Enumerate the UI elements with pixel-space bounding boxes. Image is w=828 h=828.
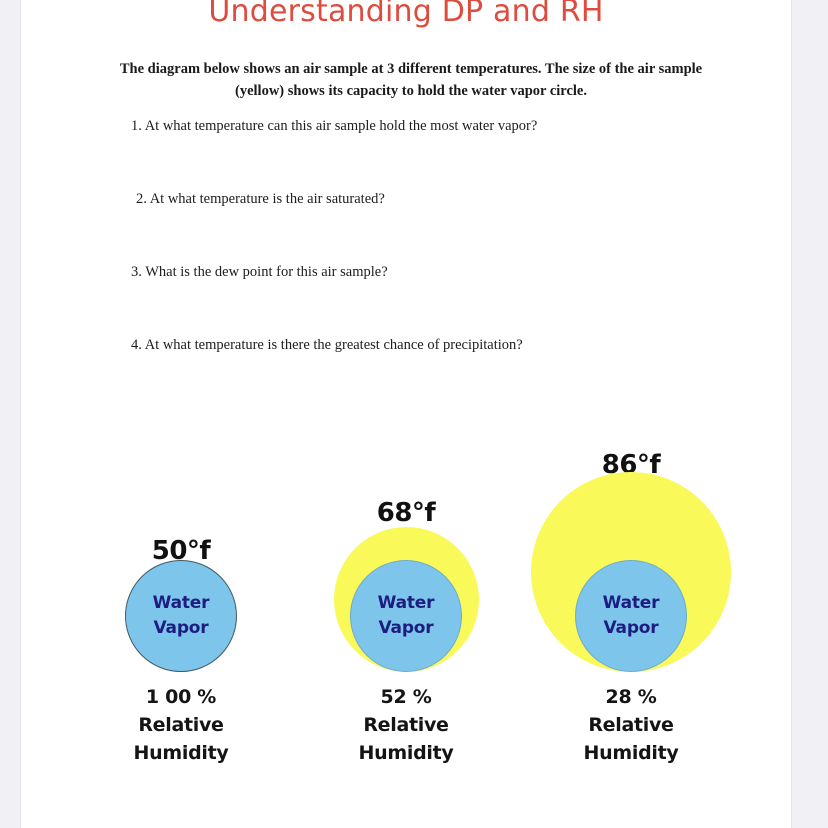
caption-50f: 1 00 % Relative Humidity (71, 683, 291, 767)
water-vapor-circle-68f: Water Vapor (350, 560, 462, 672)
caption-86f: 28 % Relative Humidity (511, 683, 751, 767)
sample-column-86f: 86°f Water Vapor 28 % Relative Humidity (511, 0, 751, 828)
water-vapor-circle-86f: Water Vapor (575, 560, 687, 672)
circle-group-68f: Water Vapor (296, 432, 516, 672)
caption-68f: 52 % Relative Humidity (296, 683, 516, 767)
relative-humidity-value-86f: 28 % (511, 683, 751, 711)
sample-column-50f: 50°f Water Vapor 1 00 % Relative Humidit… (71, 0, 291, 828)
sample-column-68f: 68°f Water Vapor 52 % Relative Humidity (296, 0, 516, 828)
relative-humidity-line2-86f: Humidity (511, 739, 751, 767)
relative-humidity-value-68f: 52 % (296, 683, 516, 711)
water-vapor-label-line1: Water (603, 591, 660, 616)
humidity-diagram: 50°f Water Vapor 1 00 % Relative Humidit… (21, 0, 791, 828)
circle-group-50f: Water Vapor (71, 432, 291, 672)
circle-group-86f: Water Vapor (511, 432, 751, 672)
water-vapor-label-line1: Water (378, 591, 435, 616)
water-vapor-circle-50f: Water Vapor (125, 560, 237, 672)
relative-humidity-line2-68f: Humidity (296, 739, 516, 767)
water-vapor-label-line1: Water (153, 591, 210, 616)
relative-humidity-line1-68f: Relative (296, 711, 516, 739)
water-vapor-label-line2: Vapor (154, 616, 209, 641)
water-vapor-label-line2: Vapor (379, 616, 434, 641)
relative-humidity-line2-50f: Humidity (71, 739, 291, 767)
relative-humidity-line1-86f: Relative (511, 711, 751, 739)
relative-humidity-line1-50f: Relative (71, 711, 291, 739)
document-page: Understanding DP and RH The diagram belo… (21, 0, 791, 828)
water-vapor-label-line2: Vapor (604, 616, 659, 641)
relative-humidity-value-50f: 1 00 % (71, 683, 291, 711)
